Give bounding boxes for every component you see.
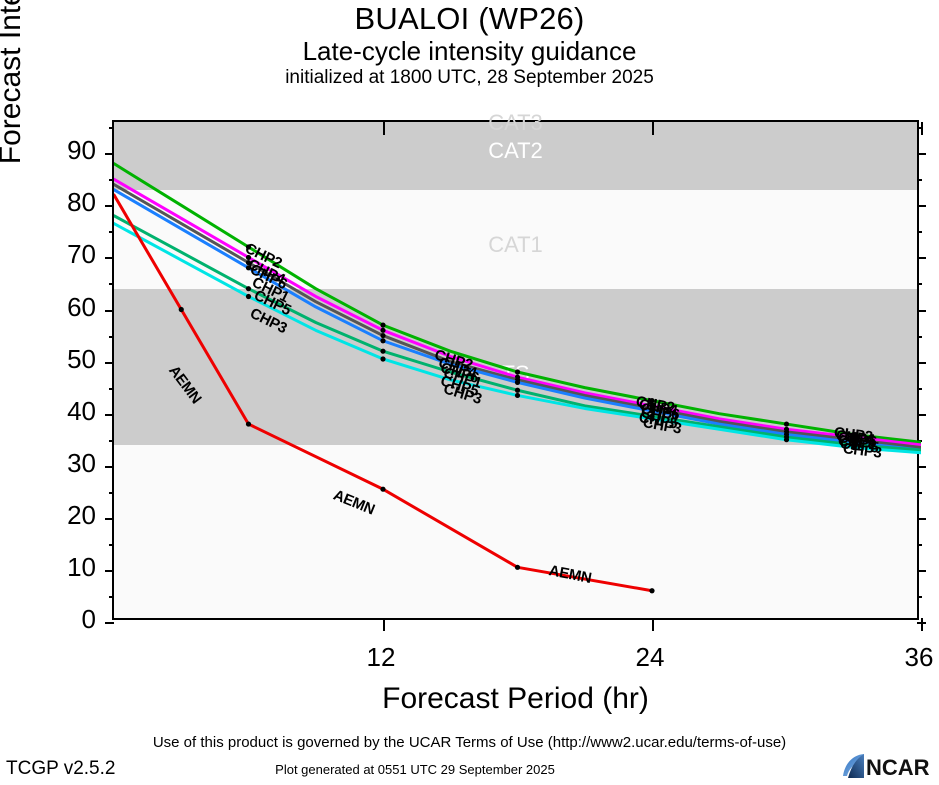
y-tick	[105, 414, 114, 416]
y-tick-label: 80	[34, 189, 96, 215]
y-tick-label: 90	[34, 137, 96, 163]
forecast-lines	[114, 122, 921, 622]
title-block: BUALOI (WP26) Late-cycle intensity guida…	[0, 0, 939, 90]
y-tick	[105, 153, 114, 155]
y-axis-title: Forecast Intensity (kt)	[0, 0, 28, 170]
data-point	[380, 487, 385, 492]
data-point	[246, 294, 251, 299]
data-point	[784, 421, 789, 426]
data-point	[380, 328, 385, 333]
x-tick-label: 12	[341, 642, 421, 673]
data-point	[380, 356, 385, 361]
series-line-chp1	[114, 190, 921, 450]
data-point	[380, 338, 385, 343]
data-point	[515, 393, 520, 398]
data-point	[515, 565, 520, 570]
y-tick-label: 70	[34, 241, 96, 267]
y-tick	[105, 518, 114, 520]
y-tick	[105, 205, 114, 207]
y-tick-label: 50	[34, 346, 96, 372]
data-point	[515, 369, 520, 374]
data-point	[380, 333, 385, 338]
data-point	[784, 437, 789, 442]
data-point	[515, 388, 520, 393]
chart-title: BUALOI (WP26)	[0, 2, 939, 36]
svg-text:NCAR: NCAR	[866, 755, 930, 780]
x-tick-label: 24	[610, 642, 690, 673]
tcgp-version: TCGP v2.5.2	[6, 758, 115, 780]
y-tick-label: 0	[34, 606, 96, 632]
y-tick	[105, 622, 114, 624]
data-point	[179, 307, 184, 312]
x-tick-top	[921, 122, 923, 135]
series-line-chp6	[114, 185, 921, 448]
y-tick	[105, 466, 114, 468]
terms-of-use-text: Use of this product is governed by the U…	[0, 734, 939, 751]
data-point	[246, 421, 251, 426]
data-point	[649, 588, 654, 593]
x-tick	[921, 618, 923, 631]
data-point	[380, 349, 385, 354]
series-line-chp3	[114, 224, 921, 453]
chart-initialized-time: initialized at 1800 UTC, 28 September 20…	[0, 66, 939, 90]
y-tick-label: 30	[34, 450, 96, 476]
x-axis-title: Forecast Period (hr)	[112, 682, 919, 716]
y-tick	[105, 310, 114, 312]
data-point	[515, 380, 520, 385]
ncar-logo: NCAR	[842, 752, 939, 780]
y-tick-label: 40	[34, 398, 96, 424]
series-line-chp4	[114, 179, 921, 445]
chart-subtitle: Late-cycle intensity guidance	[0, 36, 939, 66]
plot-generated-text: Plot generated at 0551 UTC 29 September …	[0, 762, 830, 777]
y-tick-label: 10	[34, 554, 96, 580]
data-point	[380, 323, 385, 328]
y-tick	[105, 570, 114, 572]
y-tick	[105, 362, 114, 364]
x-tick-label: 36	[879, 642, 939, 673]
y-tick-label: 60	[34, 294, 96, 320]
y-tick	[105, 257, 114, 259]
plot-area: CAT2CAT3CAT1TS CHP2CHP4CHP6CHP1CHP5CHP3C…	[112, 120, 919, 620]
y-tick-label: 20	[34, 502, 96, 528]
